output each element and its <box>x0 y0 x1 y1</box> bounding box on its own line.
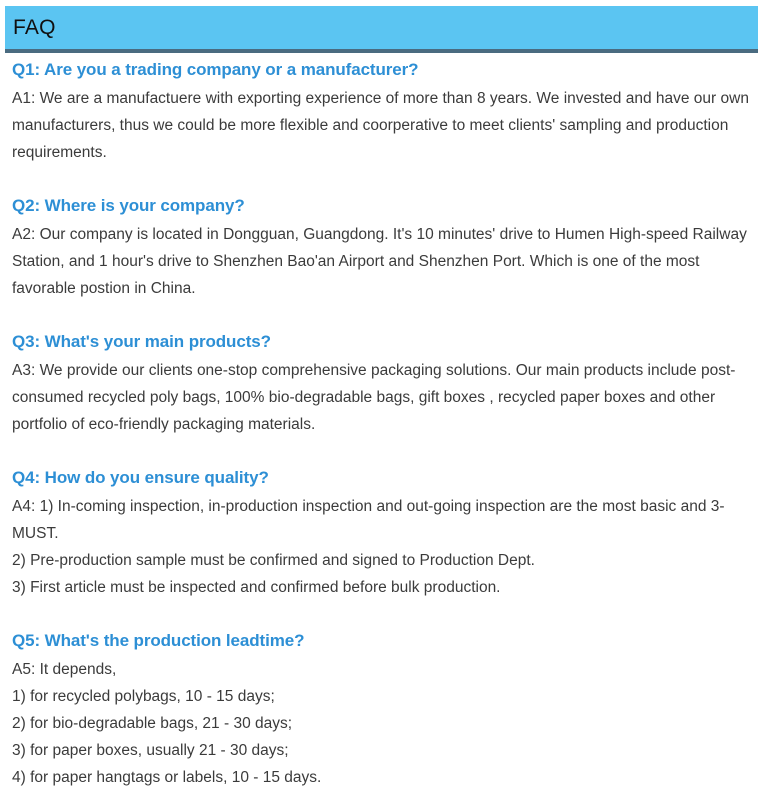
faq-answer: A2: Our company is located in Dongguan, … <box>12 221 749 302</box>
faq-answer-line: 4) for paper hangtags or labels, 10 - 15… <box>12 764 749 791</box>
faq-answer-line: A4: 1) In-coming inspection, in-producti… <box>12 493 749 547</box>
faq-answer-line: 3) First article must be inspected and c… <box>12 574 749 601</box>
faq-page: FAQ Q1: Are you a trading company or a m… <box>0 0 765 748</box>
faq-answer-line: 2) Pre-production sample must be confirm… <box>12 547 749 574</box>
faq-question: Q5: What's the production leadtime? <box>12 627 749 655</box>
faq-answer-line: A3: We provide our clients one-stop comp… <box>12 357 749 438</box>
faq-banner: FAQ <box>5 6 758 53</box>
faq-question: Q1: Are you a trading company or a manuf… <box>12 56 749 84</box>
faq-answer-line: A1: We are a manufactuere with exporting… <box>12 85 749 166</box>
faq-answer: A5: It depends,1) for recycled polybags,… <box>12 656 749 791</box>
faq-answer-line: A5: It depends, <box>12 656 749 683</box>
faq-question: Q3: What's your main products? <box>12 328 749 356</box>
faq-answer-line: 1) for recycled polybags, 10 - 15 days; <box>12 683 749 710</box>
faq-answer-line: 2) for bio-degradable bags, 21 - 30 days… <box>12 710 749 737</box>
faq-item: Q3: What's your main products?A3: We pro… <box>0 328 765 438</box>
faq-question: Q4: How do you ensure quality? <box>12 464 749 492</box>
faq-item: Q2: Where is your company?A2: Our compan… <box>0 192 765 302</box>
faq-answer: A4: 1) In-coming inspection, in-producti… <box>12 493 749 601</box>
faq-list: Q1: Are you a trading company or a manuf… <box>0 56 765 791</box>
faq-answer: A1: We are a manufactuere with exporting… <box>12 85 749 166</box>
faq-item: Q1: Are you a trading company or a manuf… <box>0 56 765 166</box>
faq-answer-line: 3) for paper boxes, usually 21 - 30 days… <box>12 737 749 764</box>
faq-item: Q5: What's the production leadtime?A5: I… <box>0 627 765 791</box>
faq-item: Q4: How do you ensure quality?A4: 1) In-… <box>0 464 765 601</box>
faq-answer: A3: We provide our clients one-stop comp… <box>12 357 749 438</box>
faq-answer-line: A2: Our company is located in Dongguan, … <box>12 221 749 302</box>
faq-question: Q2: Where is your company? <box>12 192 749 220</box>
faq-banner-title: FAQ <box>5 17 56 38</box>
